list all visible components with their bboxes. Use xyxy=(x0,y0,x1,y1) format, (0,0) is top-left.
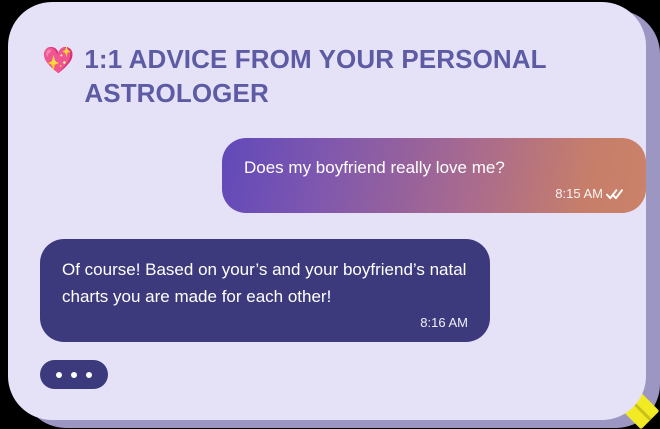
astrologer-chat-card: 💖 1:1 ADVICE FROM YOUR PERSONAL ASTROLOG… xyxy=(8,2,646,420)
message-text: Of course! Based on your’s and your boyf… xyxy=(62,256,468,310)
sparkling-heart-icon: 💖 xyxy=(42,43,74,77)
message-meta: 8:15 AM xyxy=(244,185,624,203)
typing-indicator xyxy=(40,360,108,389)
screenshot-stage: 💖 1:1 ADVICE FROM YOUR PERSONAL ASTROLOG… xyxy=(0,0,660,428)
message-text: Does my boyfriend really love me? xyxy=(244,154,624,181)
message-timestamp: 8:16 AM xyxy=(420,314,468,332)
message-meta: 8:16 AM xyxy=(62,314,468,332)
message-row-incoming: Of course! Based on your’s and your boyf… xyxy=(8,213,646,342)
message-row-outgoing: Does my boyfriend really love me? 8:15 A… xyxy=(8,138,646,213)
page-title-text: 1:1 ADVICE FROM YOUR PERSONAL ASTROLOGER xyxy=(84,42,602,110)
page-title: 💖 1:1 ADVICE FROM YOUR PERSONAL ASTROLOG… xyxy=(42,42,602,110)
typing-dot xyxy=(86,372,92,378)
double-check-icon xyxy=(606,187,624,201)
typing-dot xyxy=(56,372,62,378)
typing-dot xyxy=(71,372,77,378)
chat-transcript: Does my boyfriend really love me? 8:15 A… xyxy=(8,138,646,389)
message-timestamp: 8:15 AM xyxy=(555,185,603,203)
message-bubble-incoming[interactable]: Of course! Based on your’s and your boyf… xyxy=(40,239,490,342)
message-bubble-outgoing[interactable]: Does my boyfriend really love me? 8:15 A… xyxy=(222,138,646,213)
typing-indicator-row xyxy=(8,360,646,389)
